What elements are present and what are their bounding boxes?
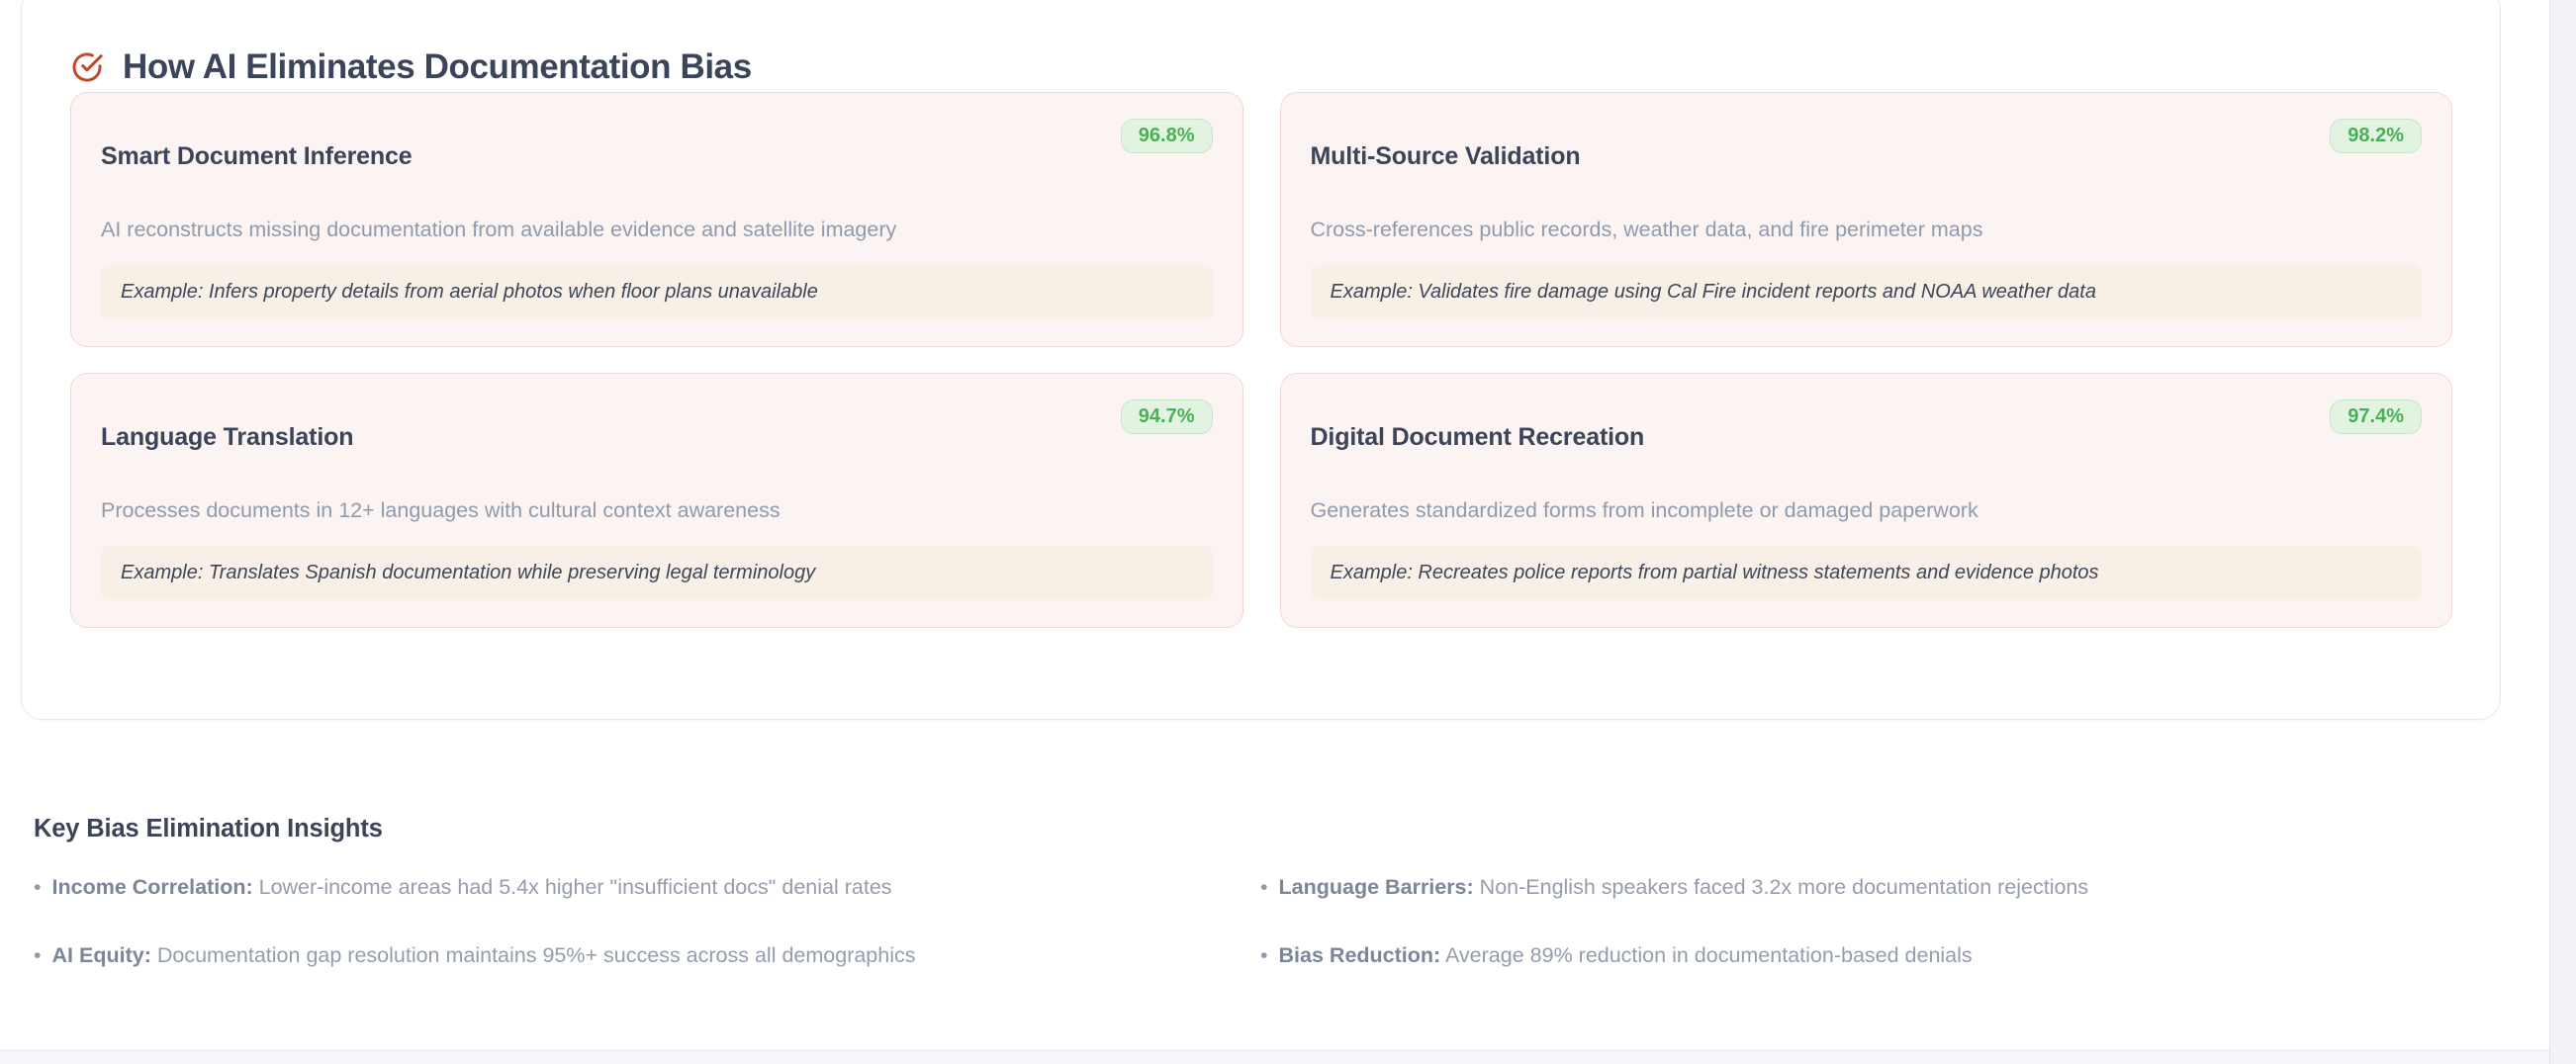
method-description: Processes documents in 12+ languages wit…	[101, 497, 1213, 525]
insight-label: Language Barriers:	[1279, 875, 1474, 899]
bullet-icon: •	[1260, 945, 1268, 967]
insights-grid: • Income Correlation: Lower-income areas…	[34, 874, 2487, 969]
bottom-strip	[0, 1051, 2549, 1064]
content-column: How AI Eliminates Documentation Bias Sma…	[0, 0, 2549, 1064]
insight-label: Income Correlation:	[52, 875, 253, 899]
method-card[interactable]: Multi-Source Validation 98.2% Cross-refe…	[1280, 92, 2453, 347]
method-card[interactable]: Digital Document Recreation 97.4% Genera…	[1280, 373, 2453, 628]
method-title: Smart Document Inference	[101, 142, 413, 171]
vertical-scrollbar[interactable]	[2549, 0, 2576, 1064]
method-description: Cross-references public records, weather…	[1311, 217, 2423, 244]
insight-item: • AI Equity: Documentation gap resolutio…	[34, 942, 1260, 969]
method-description: Generates standardized forms from incomp…	[1311, 497, 2423, 525]
method-card[interactable]: Smart Document Inference 96.8% AI recons…	[70, 92, 1243, 347]
page-title: How AI Eliminates Documentation Bias	[123, 49, 752, 84]
page-root: How AI Eliminates Documentation Bias Sma…	[0, 0, 2576, 1064]
insight-item: • Bias Reduction: Average 89% reduction …	[1260, 942, 2487, 969]
method-title: Digital Document Recreation	[1311, 423, 1645, 452]
method-card-header: Language Translation 94.7%	[101, 399, 1213, 477]
method-example: Example: Infers property details from ae…	[101, 265, 1213, 319]
method-card[interactable]: Language Translation 94.7% Processes doc…	[70, 373, 1243, 628]
insight-body: Lower-income areas had 5.4x higher "insu…	[259, 875, 892, 899]
method-card-header: Digital Document Recreation 97.4%	[1311, 399, 2423, 477]
method-title: Language Translation	[101, 423, 353, 452]
method-card-header: Multi-Source Validation 98.2%	[1311, 118, 2423, 196]
insight-label: Bias Reduction:	[1279, 943, 1441, 967]
bullet-icon: •	[34, 945, 42, 967]
accuracy-badge: 94.7%	[1121, 399, 1213, 434]
insight-text: Bias Reduction: Average 89% reduction in…	[1279, 942, 1973, 969]
bullet-icon: •	[34, 877, 42, 899]
check-circle-icon	[70, 50, 104, 84]
bullet-icon: •	[1260, 877, 1268, 899]
key-insights-section: Key Bias Elimination Insights • Income C…	[34, 791, 2487, 969]
insight-text: Language Barriers: Non-English speakers …	[1279, 874, 2089, 901]
method-card-header: Smart Document Inference 96.8%	[101, 118, 1213, 196]
insight-body: Average 89% reduction in documentation-b…	[1445, 943, 1973, 967]
insight-label: AI Equity:	[52, 943, 151, 967]
insight-body: Non-English speakers faced 3.2x more doc…	[1480, 875, 2088, 899]
insight-text: AI Equity: Documentation gap resolution …	[52, 942, 916, 969]
method-example: Example: Validates fire damage using Cal…	[1311, 265, 2423, 319]
method-example: Example: Recreates police reports from p…	[1311, 546, 2423, 600]
insight-item: • Income Correlation: Lower-income areas…	[34, 874, 1260, 901]
method-title: Multi-Source Validation	[1311, 142, 1581, 171]
documentation-bias-panel: How AI Eliminates Documentation Bias Sma…	[21, 0, 2501, 720]
insight-text: Income Correlation: Lower-income areas h…	[52, 874, 892, 901]
accuracy-badge: 96.8%	[1121, 119, 1213, 153]
insights-title: Key Bias Elimination Insights	[34, 817, 2487, 842]
method-description: AI reconstructs missing documentation fr…	[101, 217, 1213, 244]
insight-body: Documentation gap resolution maintains 9…	[157, 943, 916, 967]
methods-grid: Smart Document Inference 96.8% AI recons…	[70, 92, 2452, 628]
insight-item: • Language Barriers: Non-English speaker…	[1260, 874, 2487, 901]
accuracy-badge: 98.2%	[2330, 119, 2422, 153]
method-example: Example: Translates Spanish documentatio…	[101, 546, 1213, 600]
accuracy-badge: 97.4%	[2330, 399, 2422, 434]
